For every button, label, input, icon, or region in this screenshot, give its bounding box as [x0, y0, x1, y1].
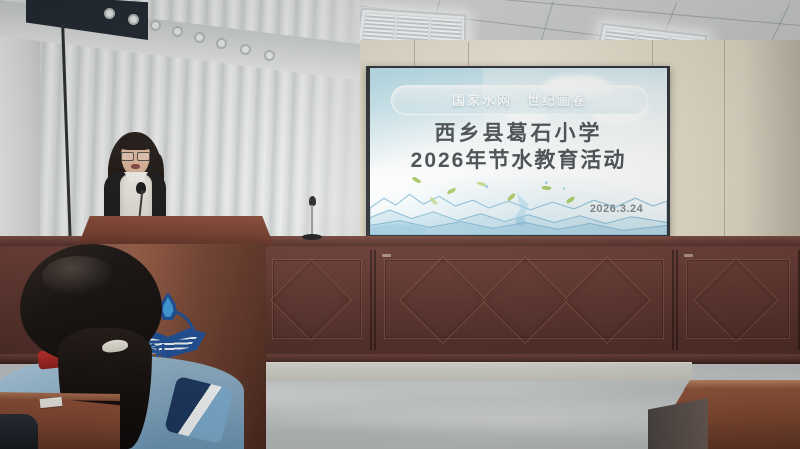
chair-back [0, 414, 38, 449]
microphone-base [302, 234, 322, 240]
screen-title-block: 西乡县葛石小学 2026年节水教育活动 [370, 121, 667, 175]
screen-title-line1: 西乡县葛石小学 [370, 121, 667, 148]
speaker-fringe [118, 134, 153, 150]
baseboard [232, 362, 692, 381]
screen-banner: 国家水网 世纪画卷 [391, 85, 648, 115]
curtain-ring [150, 20, 161, 31]
screen-date: 2026.3.24 [590, 203, 643, 215]
screen-surface: 国家水网 世纪画卷 西乡县葛石小学 2026年节水教育活动 [370, 68, 667, 235]
panel-knob [684, 254, 693, 257]
panel-knob [382, 254, 391, 257]
microphone-stem [311, 205, 313, 236]
curtain-ring [104, 8, 115, 19]
screen-title-line2: 2026年节水教育活动 [370, 148, 667, 175]
glasses-icon [121, 152, 150, 159]
podium-reading-surface [78, 216, 274, 246]
curtain-ring [194, 32, 205, 43]
desk-microphone [300, 196, 324, 244]
screen-banner-text: 国家水网 世纪画卷 [452, 90, 587, 109]
student-hair-highlight [42, 256, 116, 296]
wood-panel-section [676, 250, 800, 350]
curtain-ring [240, 44, 251, 55]
curtain-ring [264, 50, 275, 61]
wood-panel-section [374, 250, 674, 350]
projection-screen[interactable]: 国家水网 世纪画卷 西乡县葛石小学 2026年节水教育活动 [366, 66, 670, 238]
wood-panel-section [262, 250, 372, 350]
curtain-ring [216, 38, 227, 49]
curtain-ring [128, 14, 139, 25]
conference-room-photo: 国家水网 世纪画卷 西乡县葛石小学 2026年节水教育活动 [0, 0, 800, 449]
curtain-ring [172, 26, 183, 37]
speaker-mouth [131, 164, 140, 169]
